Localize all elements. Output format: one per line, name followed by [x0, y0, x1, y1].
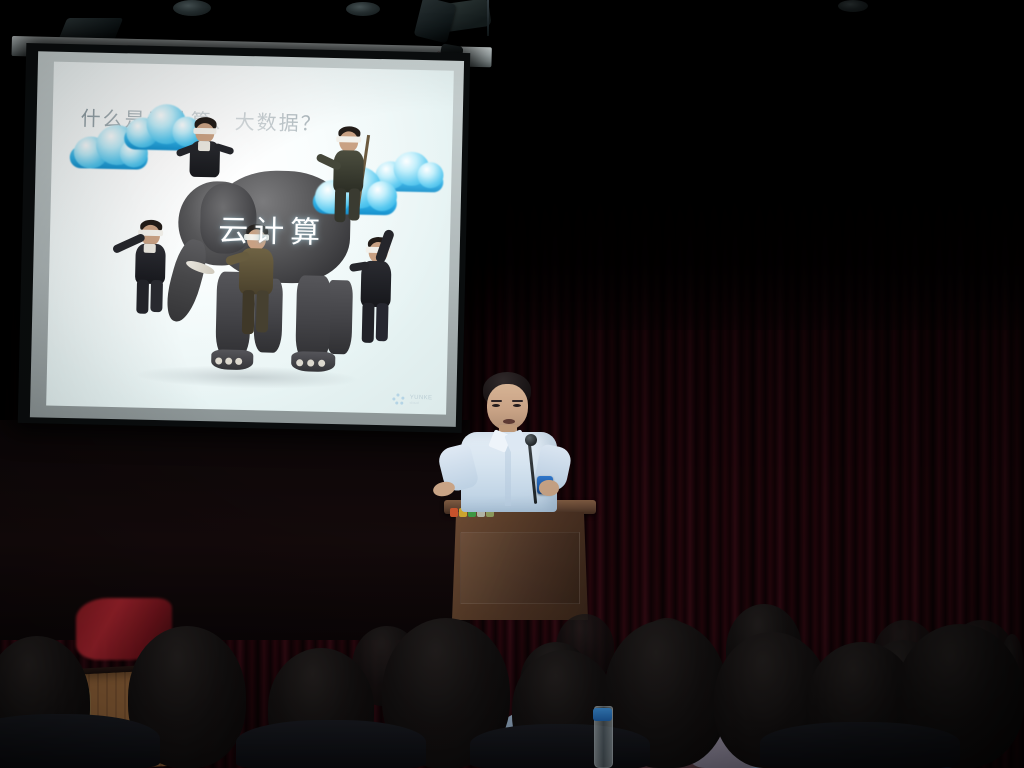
- cloud-dots-icon: [393, 393, 407, 405]
- figure-leg: [376, 303, 389, 341]
- lecture-hall-photo: Screenline 什么是云计算、大数据？: [0, 0, 1024, 768]
- ceiling-light-icon: [346, 2, 380, 16]
- figure-collar: [144, 244, 156, 253]
- screen-mat: 什么是云计算、大数据？: [30, 51, 464, 427]
- attendee-shoulders: [470, 724, 650, 768]
- figure-leg: [348, 188, 360, 220]
- elephant-toe: [215, 357, 222, 364]
- blindfolded-man-figure: [322, 126, 378, 223]
- figure-collar: [198, 141, 210, 151]
- microphone-icon: [525, 434, 537, 446]
- attendee-shoulders: [0, 714, 160, 768]
- elephant-foot: [291, 351, 335, 372]
- projection-screen: 什么是云计算、大数据？: [18, 43, 471, 433]
- figure-body: [333, 150, 364, 193]
- attendee-shoulders: [760, 722, 960, 768]
- figure-leg: [334, 188, 346, 222]
- shirt-placket: [505, 444, 511, 506]
- elephant-foot: [211, 349, 253, 370]
- presenter-hand: [539, 480, 559, 496]
- blindfold-band: [336, 136, 361, 143]
- elephant-toe: [225, 358, 232, 365]
- bottle-cap: [593, 708, 612, 721]
- figure-leg: [256, 290, 269, 332]
- figure-leg: [150, 280, 163, 312]
- slide-watermark: YUNKE cloud: [393, 393, 433, 406]
- ceiling-light-icon: [173, 0, 211, 16]
- hanging-wire: [487, 0, 489, 36]
- slide-center-label: 云计算: [218, 205, 327, 251]
- figure-leg: [362, 303, 375, 343]
- attendee-shoulders: [236, 720, 426, 768]
- elephant-toe: [318, 360, 325, 367]
- figure-leg: [242, 290, 255, 334]
- presenter-eye: [513, 404, 521, 407]
- watermark-text-block: YUNKE cloud: [410, 395, 433, 406]
- blindfolded-man-figure: [120, 215, 180, 314]
- elephant-leg: [295, 275, 331, 362]
- elephant-toe: [296, 359, 303, 366]
- blindfold-band: [193, 128, 216, 135]
- elephant-toe: [235, 358, 242, 365]
- watermark-subtext: cloud: [410, 401, 433, 406]
- figure-leg: [136, 280, 149, 314]
- presenter-eye: [492, 404, 500, 407]
- ceiling-light-icon: [838, 0, 868, 12]
- presentation-slide: 什么是云计算、大数据？: [46, 62, 454, 415]
- elephant-toe: [307, 359, 314, 366]
- blindfolded-man-figure: [181, 117, 230, 180]
- blindfolded-man-figure: [344, 236, 408, 343]
- audience: [0, 560, 1024, 768]
- presenter: [455, 372, 585, 522]
- presenter-mouth: [503, 419, 515, 424]
